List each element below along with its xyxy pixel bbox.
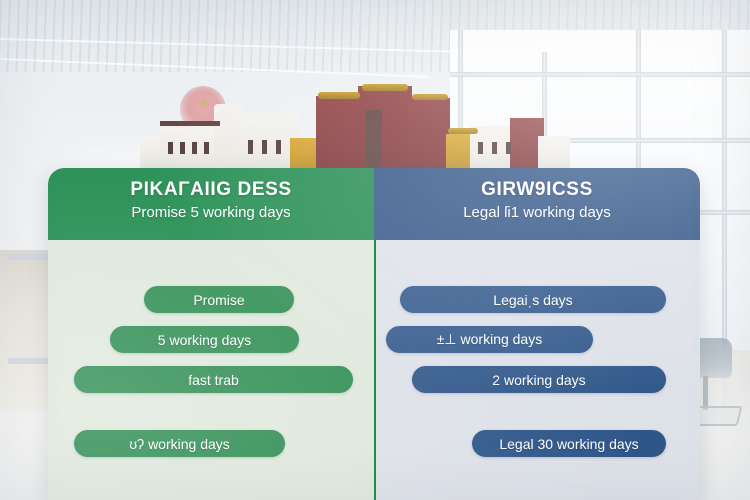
palace-window [492,142,497,154]
pill-item[interactable]: fast trab [74,366,353,393]
palace-window-band [366,110,382,170]
comparison-card: PIKAΓAIIG DESS Promise 5 working days Pr… [48,168,700,500]
palace-red-palace [316,96,362,170]
pill-item[interactable]: Legaiˌs days [400,286,666,313]
potala-palace-illustration: ★ [140,78,570,170]
counter-strip [8,254,50,260]
window-transom [450,72,750,77]
chair-post [703,376,708,410]
pill-item[interactable]: Legal 30 working days [472,430,666,457]
emblem-star-icon: ★ [197,97,209,110]
palace-wing-right [538,136,570,170]
counter-strip [8,358,50,364]
palace-window [262,140,267,154]
palace-window [276,140,281,154]
palace-window [204,142,209,154]
palace-window [248,140,253,154]
palace-window [192,142,197,154]
column-legal-subtitle: Legal ſi1 working days [374,201,700,221]
palace-golden-roof [412,94,448,100]
column-promise: PIKAΓAIIG DESS Promise 5 working days Pr… [48,168,374,500]
pill-item[interactable]: Promise [144,286,294,313]
pill-item[interactable]: ʊʔ working days [74,430,285,457]
pill-item[interactable]: ±⊥ working days [386,326,593,353]
column-promise-header: PIKAΓAIIG DESS Promise 5 working days [48,168,374,240]
palace-window [478,142,483,154]
palace-golden-roof [318,92,360,99]
palace-golden-roof [448,128,478,134]
pill-item[interactable]: 2 working days [412,366,666,393]
palace-red-palace [408,98,450,170]
column-legal-pill-list: Legaiˌs days ±⊥ working days 2 working d… [374,240,700,500]
palace-golden-roof [362,84,408,91]
column-promise-title: PIKAΓAIIG DESS [48,168,374,201]
column-legal: GIRW9ICSS Legal ſi1 working days Legaiˌs… [374,168,700,500]
palace-window [168,142,173,154]
column-divider [374,240,376,500]
palace-window [180,142,185,154]
pill-item[interactable]: 5 working days [110,326,299,353]
column-promise-subtitle: Promise 5 working days [48,201,374,221]
column-legal-title: GIRW9ICSS [374,168,700,201]
column-legal-header: GIRW9ICSS Legal ſi1 working days [374,168,700,240]
column-promise-pill-list: Promise 5 working days fast trab ʊʔ work… [48,240,374,500]
palace-window [506,142,511,154]
palace-roof-band [160,121,220,126]
screenshot-root: ★ PIKAΓAIIG DESS [0,0,750,500]
